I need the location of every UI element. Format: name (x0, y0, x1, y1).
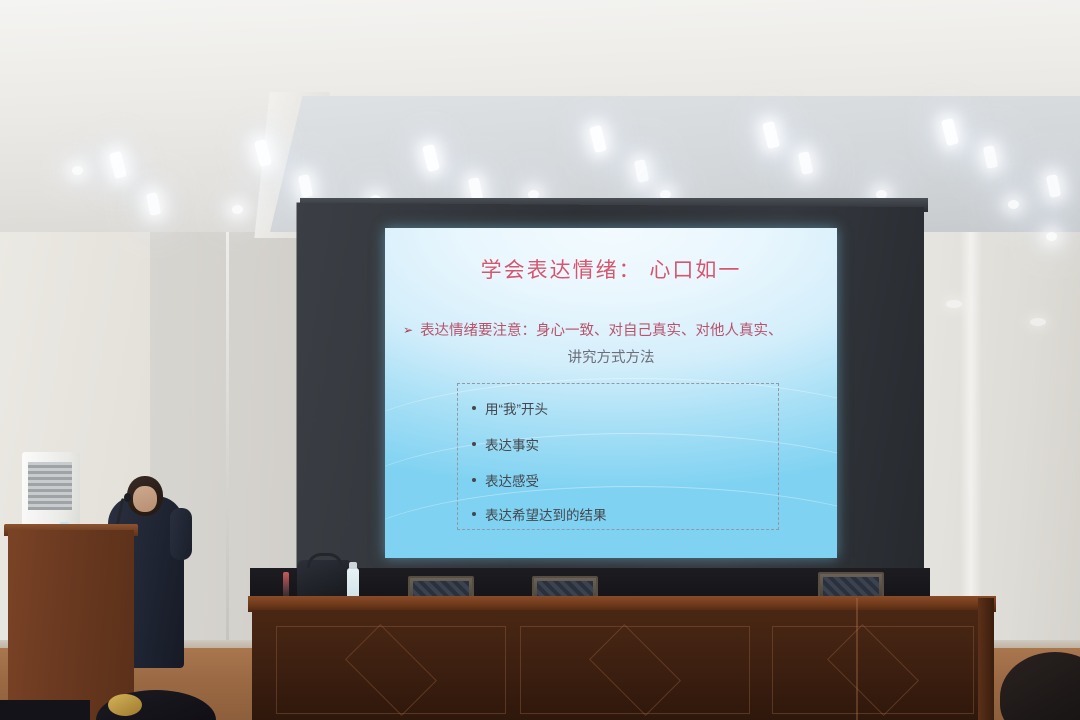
pen (283, 572, 289, 598)
slide-lead-bullet: ➢ 表达情绪要注意：身心一致、对自己真实、对他人真实、 (403, 320, 821, 342)
table-panel-diamond (589, 624, 681, 716)
list-item-label: 表达事实 (485, 434, 539, 454)
podium (8, 530, 134, 720)
ceiling-downlight (232, 205, 243, 214)
wall-corner-seam (226, 150, 229, 710)
slide-title: 学会表达情绪： 心口如一 (385, 254, 837, 284)
projected-slide: 学会表达情绪： 心口如一 ➢ 表达情绪要注意：身心一致、对自己真实、对他人真实、… (385, 228, 837, 558)
lecture-hall-photo: 学会表达情绪： 心口如一 ➢ 表达情绪要注意：身心一致、对自己真实、对他人真实、… (0, 0, 1080, 720)
list-item-label: 表达感受 (485, 470, 539, 490)
speaker-face (133, 486, 157, 512)
ceiling-downlight (1008, 200, 1019, 209)
ceiling-downlight (72, 166, 83, 175)
hair-clip (108, 694, 142, 716)
list-item: 用“我”开头 (472, 398, 548, 418)
speaker-arm (170, 508, 192, 560)
water-bottle-cap (349, 562, 357, 569)
list-item-label: 用“我”开头 (485, 398, 548, 418)
air-conditioner-vent (28, 462, 72, 510)
arrow-bullet-icon: ➢ (403, 320, 413, 342)
foreground-shadow-left (0, 700, 90, 720)
list-item-label: 表达希望达到的结果 (485, 504, 607, 524)
wall-light-reflection (946, 300, 962, 308)
slide-lead-text: 表达情绪要注意：身心一致、对自己真实、对他人真实、 (420, 320, 783, 342)
wall-light-reflection (1030, 318, 1046, 326)
table-panel (276, 626, 506, 714)
camera-bag (297, 560, 353, 598)
list-item: 表达感受 (472, 470, 539, 490)
list-item: 表达希望达到的结果 (472, 504, 607, 524)
slide-lead-text-line2: 讲究方式方法 (385, 346, 837, 367)
bullet-dot-icon (472, 442, 476, 446)
list-item: 表达事实 (472, 434, 539, 454)
table-section-seam (856, 598, 858, 720)
table-panel (520, 626, 750, 714)
table-panel-diamond (827, 624, 919, 716)
microphone-icon (124, 493, 131, 502)
conference-table-front (252, 610, 992, 720)
ceiling-downlight (1046, 232, 1057, 241)
table-right-edge (978, 598, 994, 720)
table-panel-diamond (345, 624, 437, 716)
bullet-dot-icon (472, 406, 476, 410)
slide-dashed-box: 用“我”开头 表达事实 表达感受 表达希望达到的结果 (457, 383, 779, 530)
table-panel (772, 626, 974, 714)
bullet-dot-icon (472, 478, 476, 482)
bullet-dot-icon (472, 512, 476, 516)
